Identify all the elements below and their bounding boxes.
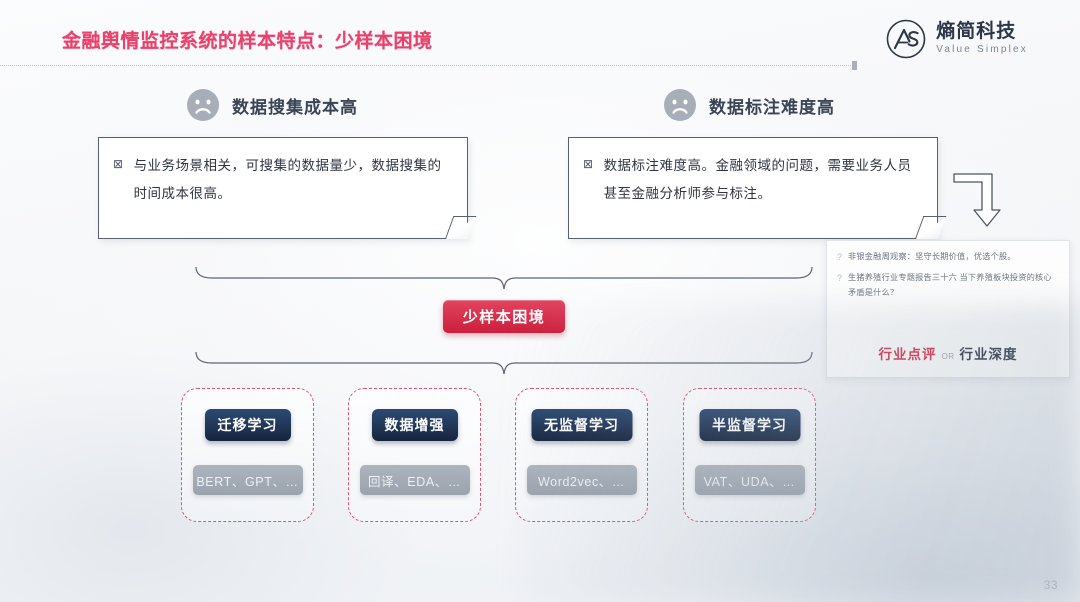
problem-card-1-body: ⊠ 与业务场景相关，可搜集的数据量少，数据搜集的时间成本很高。 — [99, 138, 467, 207]
report-item-text: 非银金融周观察：坚守长期价值，优选个股。 — [848, 250, 1059, 265]
category-label-red: 行业点评 — [879, 343, 937, 363]
logo-tagline: Value Simplex — [936, 45, 1028, 56]
method-card-unsupervised-learning[interactable]: 无监督学习 Word2vec、… — [515, 388, 648, 522]
page-curl-corner-icon — [915, 216, 946, 239]
method-card-title: 无监督学习 — [531, 409, 632, 441]
header-divider — [0, 65, 855, 66]
slide-canvas: 金融舆情监控系统的样本特点：少样本困境 熵简科技 Value Simplex 数… — [0, 0, 1080, 602]
method-card-tag: 回译、EDA、… — [360, 465, 470, 495]
method-card-title: 半监督学习 — [699, 409, 800, 441]
report-category-footer: 行业点评 OR 行业深度 — [827, 343, 1069, 363]
problem-heading-2-label: 数据标注难度高 — [709, 93, 835, 118]
report-preview-panel[interactable]: ? 非银金融周观察：坚守长期价值，优选个股。 ? 生猪养殖行业专题报告三十六 当… — [826, 240, 1070, 378]
category-separator: OR — [942, 352, 955, 361]
method-card-tag: Word2vec、… — [527, 465, 637, 495]
report-item: ? 非银金融周观察：坚守长期价值，优选个股。 — [837, 250, 1059, 265]
problem-heading-1-label: 数据搜集成本高 — [232, 93, 358, 118]
as-circle-monogram-icon — [885, 18, 927, 60]
logo-name-cn: 熵简科技 — [936, 22, 1028, 42]
problem-card-1-text: 与业务场景相关，可搜集的数据量少，数据搜集的时间成本很高。 — [134, 152, 451, 207]
method-card-transfer-learning[interactable]: 迁移学习 BERT、GPT、… — [181, 388, 314, 522]
question-mark-icon: ? — [837, 271, 842, 300]
report-item-text: 生猪养殖行业专题报告三十六 当下养殖板块投资的核心矛盾是什么？ — [848, 271, 1059, 300]
logo-text-block: 熵简科技 Value Simplex — [936, 22, 1028, 55]
header-divider-end-marker — [852, 61, 857, 70]
method-card-title: 迁移学习 — [205, 409, 291, 441]
page-title: 金融舆情监控系统的样本特点：少样本困境 — [62, 26, 433, 53]
brand-logo: 熵简科技 Value Simplex — [885, 18, 1028, 60]
page-curl-corner-icon — [445, 216, 476, 239]
method-card-tag: VAT、UDA、… — [695, 465, 805, 495]
method-card-title: 数据增强 — [372, 409, 458, 441]
report-item: ? 生猪养殖行业专题报告三十六 当下养殖板块投资的核心矛盾是什么？ — [837, 271, 1059, 300]
problem-card-2: ⊠ 数据标注难度高。金融领域的问题，需要业务人员甚至金融分析师参与标注。 — [568, 137, 938, 239]
method-card-semi-supervised-learning[interactable]: 半监督学习 VAT、UDA、… — [683, 388, 816, 522]
problem-heading-1: 数据搜集成本高 — [186, 88, 358, 122]
question-mark-icon: ? — [837, 250, 842, 265]
center-badge-label: 少样本困境 — [463, 306, 546, 327]
problem-card-2-text: 数据标注难度高。金融领域的问题，需要业务人员甚至金融分析师参与标注。 — [604, 152, 921, 207]
sad-face-icon — [186, 88, 220, 122]
method-card-tag: BERT、GPT、… — [193, 465, 303, 495]
category-label-dark: 行业深度 — [960, 343, 1018, 363]
method-card-data-augmentation[interactable]: 数据增强 回译、EDA、… — [348, 388, 481, 522]
elbow-down-arrow-icon — [952, 168, 1006, 230]
bullet-glyph-icon: ⊠ — [113, 152, 124, 207]
sad-face-icon — [663, 88, 697, 122]
problem-card-2-body: ⊠ 数据标注难度高。金融领域的问题，需要业务人员甚至金融分析师参与标注。 — [569, 138, 937, 207]
page-number: 33 — [1044, 578, 1058, 592]
problem-card-1: ⊠ 与业务场景相关，可搜集的数据量少，数据搜集的时间成本很高。 — [98, 137, 468, 239]
problem-heading-2: 数据标注难度高 — [663, 88, 835, 122]
center-badge: 少样本困境 — [443, 300, 565, 333]
bullet-glyph-icon: ⊠ — [583, 152, 594, 207]
